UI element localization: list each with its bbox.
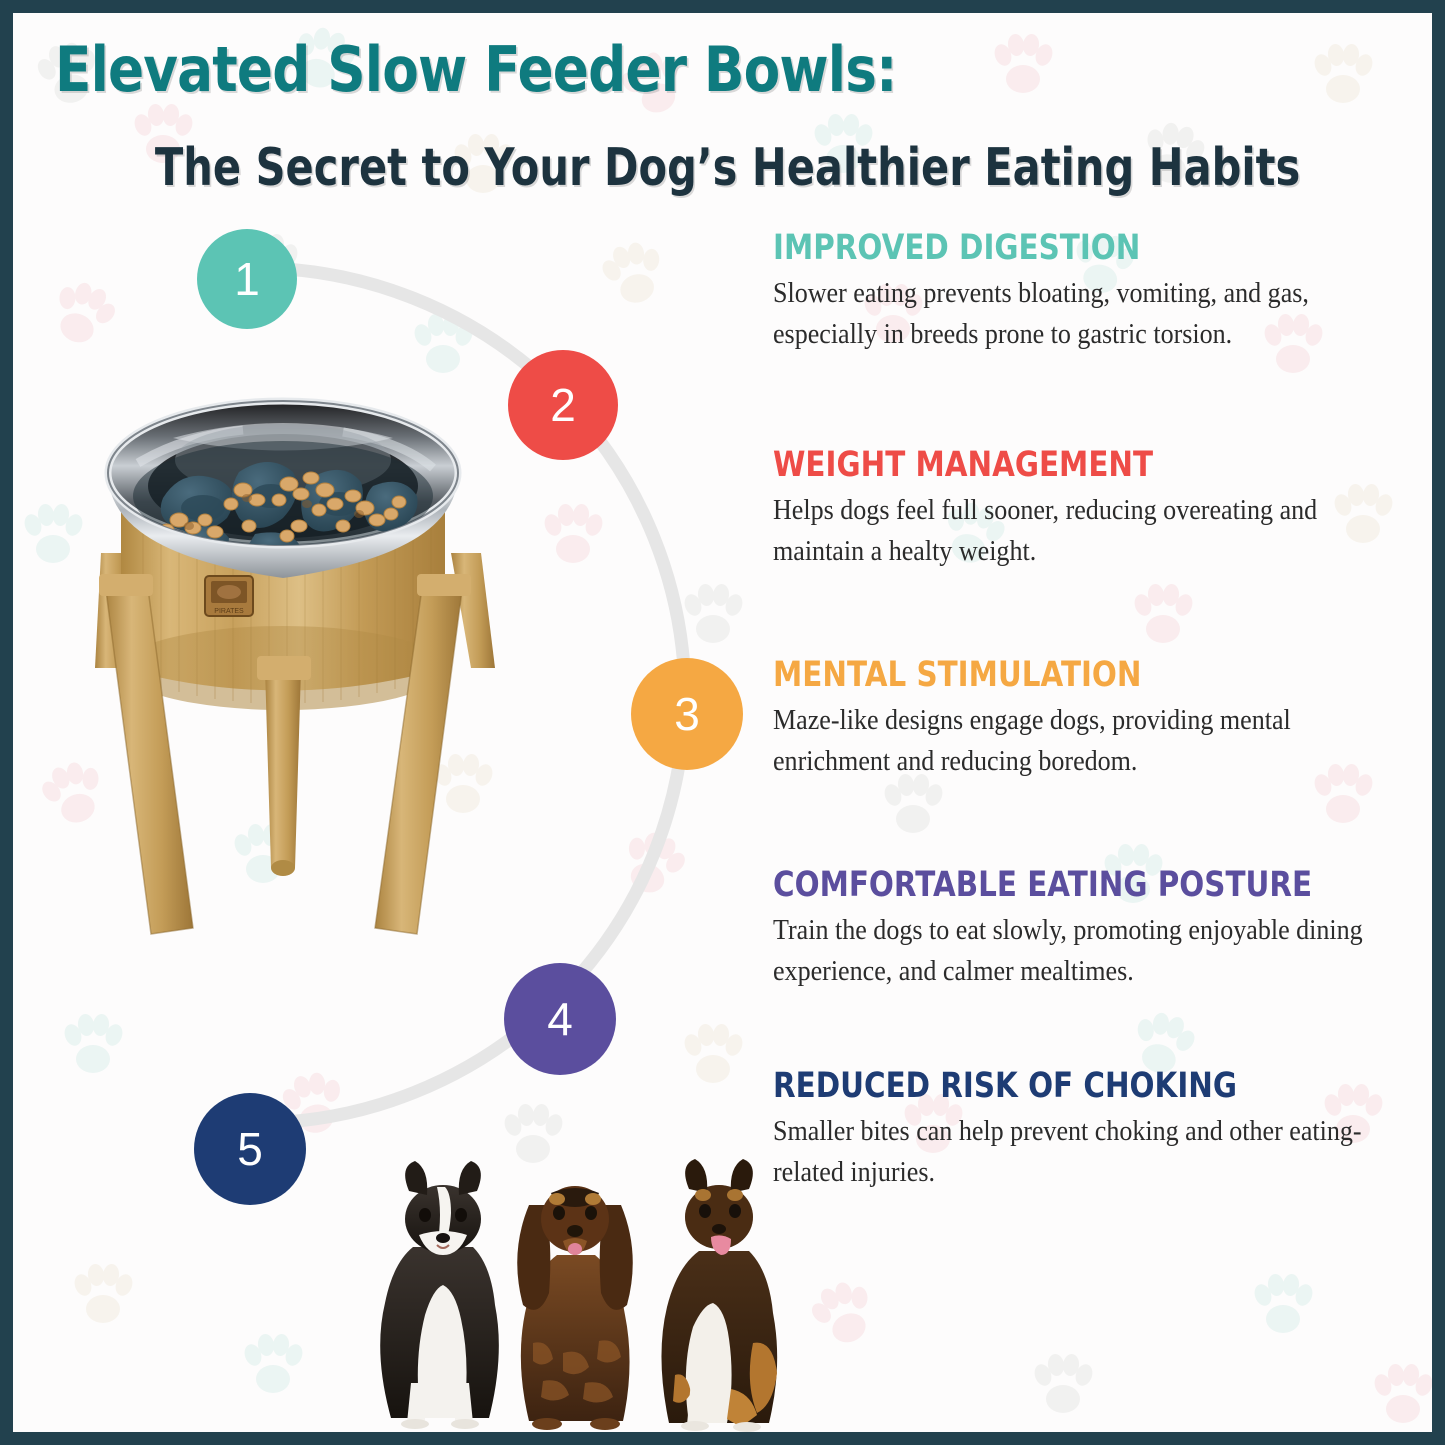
page-title: Elevated Slow Feeder Bowls: bbox=[55, 33, 1239, 106]
benefit-description: Smaller bites can help prevent choking a… bbox=[773, 1112, 1387, 1193]
poster-heading: Elevated Slow Feeder Bowls: The Secret t… bbox=[13, 33, 1432, 198]
step-badge-1[interactable]: 1 bbox=[197, 229, 297, 329]
benefit-description: Train the dogs to eat slowly, promoting … bbox=[773, 911, 1387, 992]
benefit-description: Slower eating prevents bloating, vomitin… bbox=[773, 274, 1387, 355]
benefit-heading: MENTAL STIMULATION bbox=[773, 655, 1327, 695]
benefit-description: Helps dogs feel full sooner, reducing ov… bbox=[773, 491, 1387, 572]
benefit-heading: WEIGHT MANAGEMENT bbox=[773, 445, 1327, 485]
step-badge-3[interactable]: 3 bbox=[631, 658, 743, 770]
benefit-description: Maze-like designs engage dogs, providing… bbox=[773, 701, 1387, 782]
benefit-block-1: IMPROVED DIGESTIONSlower eating prevents… bbox=[773, 228, 1432, 355]
step-badge-5[interactable]: 5 bbox=[194, 1093, 306, 1205]
product-image-elevated-bowl: PIRATES bbox=[43, 368, 523, 968]
dog-australian-shepherd bbox=[661, 1159, 777, 1432]
step-badge-4[interactable]: 4 bbox=[504, 963, 616, 1075]
dog-border-collie bbox=[380, 1161, 499, 1429]
benefit-block-3: MENTAL STIMULATIONMaze-like designs enga… bbox=[773, 655, 1432, 782]
step-badge-2[interactable]: 2 bbox=[508, 350, 618, 460]
benefit-block-2: WEIGHT MANAGEMENTHelps dogs feel full so… bbox=[773, 445, 1432, 572]
three-dogs-photo bbox=[333, 1143, 803, 1432]
stand-leg-center bbox=[265, 668, 301, 876]
brand-logo-patch: PIRATES bbox=[205, 576, 253, 616]
page-subtitle: The Secret to Your Dog’s Healthier Eatin… bbox=[155, 138, 1290, 198]
benefit-block-4: COMFORTABLE EATING POSTURETrain the dogs… bbox=[773, 865, 1432, 992]
infographic-poster: Elevated Slow Feeder Bowls: The Secret t… bbox=[13, 13, 1432, 1432]
svg-text:PIRATES: PIRATES bbox=[214, 608, 244, 615]
benefit-heading: REDUCED RISK OF CHOKING bbox=[773, 1066, 1327, 1106]
benefit-heading: COMFORTABLE EATING POSTURE bbox=[773, 865, 1327, 905]
benefit-heading: IMPROVED DIGESTION bbox=[773, 228, 1327, 268]
benefit-block-5: REDUCED RISK OF CHOKINGSmaller bites can… bbox=[773, 1066, 1432, 1193]
dog-cocker-spaniel bbox=[517, 1186, 633, 1430]
